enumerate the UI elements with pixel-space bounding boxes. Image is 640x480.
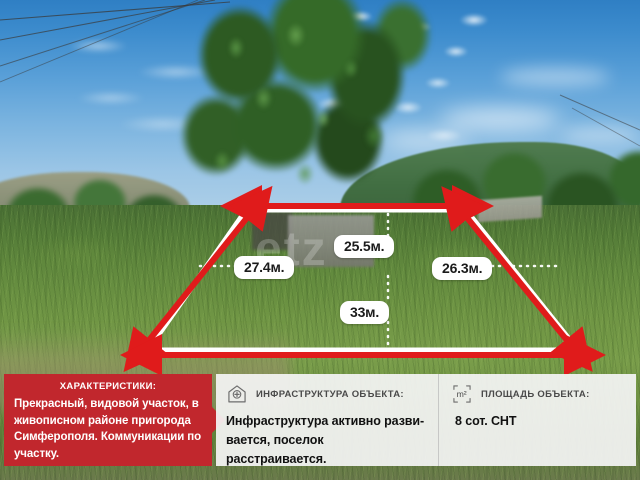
shed-roof	[478, 196, 542, 222]
info-panels: ХАРАКТЕРИСТИКИ: Прекрасный, видовой учас…	[0, 374, 640, 466]
dark-structure	[252, 212, 292, 250]
characteristics-body: Прекрасный, видовой участок, в живописно…	[14, 396, 202, 463]
area-title: ПЛОЩАДЬ ОБЪЕКТА:	[481, 389, 590, 400]
area-header: m² ПЛОЩАДЬ ОБЪЕКТА:	[451, 383, 626, 405]
dimension-label-bottom: 33м.	[340, 301, 389, 324]
dimension-label-right: 26.3м.	[432, 257, 492, 280]
listing-image: etz	[0, 0, 640, 480]
svg-text:m²: m²	[457, 389, 467, 399]
characteristics-title: ХАРАКТЕРИСТИКИ:	[14, 381, 202, 392]
infrastructure-header: ИНФРАСТРУКТУРА ОБЪЕКТА:	[226, 383, 426, 405]
house-plus-icon	[226, 383, 248, 405]
area-body: 8 сот. СНТ	[451, 412, 626, 431]
panel-characteristics: ХАРАКТЕРИСТИКИ: Прекрасный, видовой учас…	[4, 374, 212, 466]
panel-area: m² ПЛОЩАДЬ ОБЪЕКТА: 8 сот. СНТ	[438, 374, 636, 466]
dimension-label-top: 25.5м.	[334, 235, 394, 258]
infrastructure-body-line1: Инфраструктура активно разви-	[226, 412, 426, 431]
panel-infrastructure: ИНФРАСТРУКТУРА ОБЪЕКТА: Инфраструктура а…	[216, 374, 438, 466]
square-meters-icon: m²	[451, 383, 473, 405]
infrastructure-body: Инфраструктура активно разви- вается, по…	[226, 412, 426, 468]
infrastructure-title: ИНФРАСТРУКТУРА ОБЪЕКТА:	[256, 389, 404, 400]
infrastructure-body-line2: вается, поселок расстраивается.	[226, 431, 426, 469]
large-tree-foliage	[190, 10, 420, 220]
dimension-label-left: 27.4м.	[234, 256, 294, 279]
